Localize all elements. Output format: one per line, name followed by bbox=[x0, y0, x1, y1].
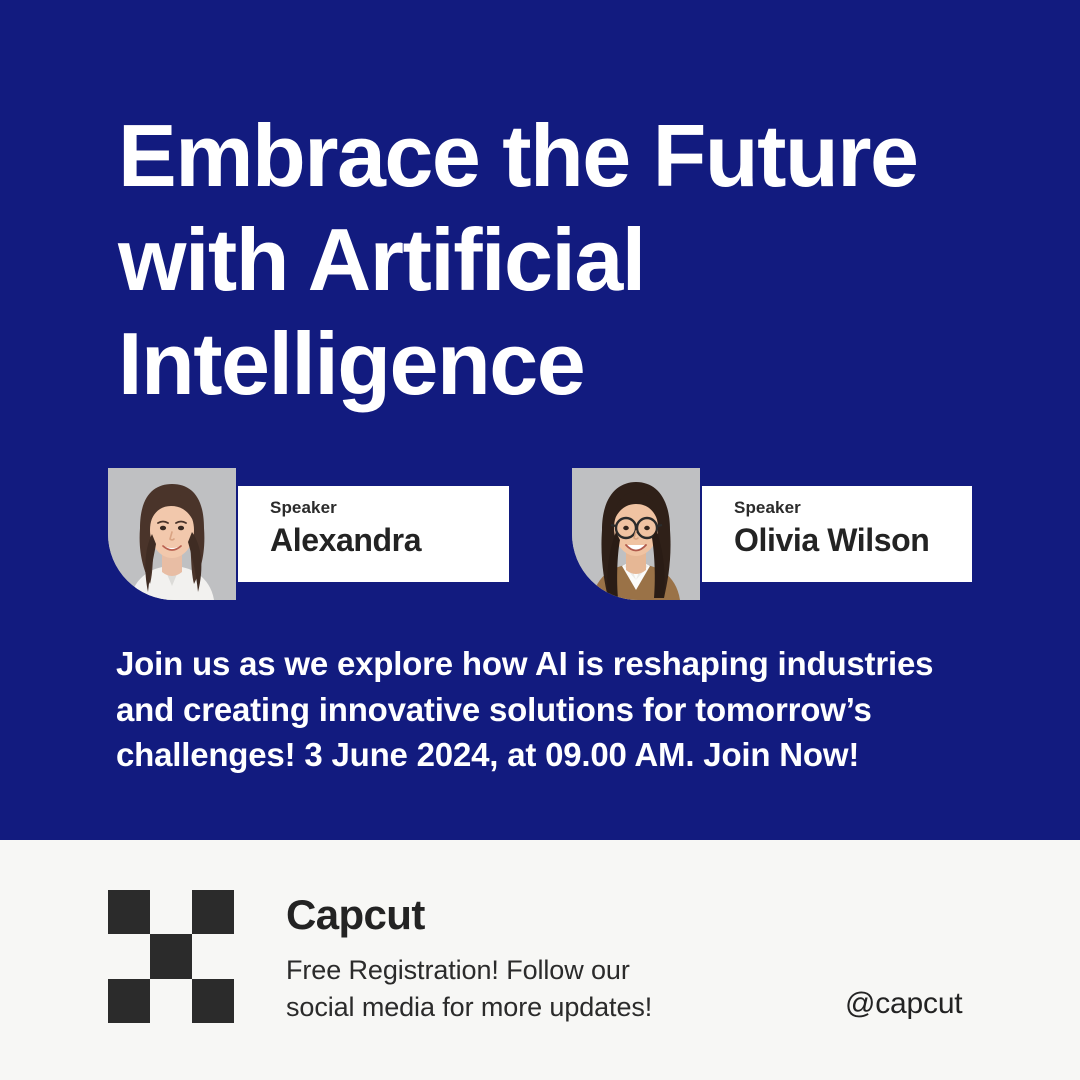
speaker-portrait-olivia-wilson-icon bbox=[572, 468, 700, 600]
body-line-3: challenges! 3 June 2024, at 09.00 AM. Jo… bbox=[116, 732, 996, 778]
logo-cell bbox=[150, 934, 192, 978]
speaker-card-alexandra: Speaker Alexandra bbox=[108, 468, 509, 600]
speaker-name: Alexandra bbox=[270, 520, 509, 560]
brand-name: Capcut bbox=[286, 892, 425, 938]
footer-tagline: Free Registration! Follow our social med… bbox=[286, 952, 652, 1027]
speaker-name: Olivia Wilson bbox=[734, 520, 972, 560]
logo-cell bbox=[108, 979, 150, 1023]
body-line-2: and creating innovative solutions for to… bbox=[116, 687, 996, 733]
event-description: Join us as we explore how AI is reshapin… bbox=[116, 641, 996, 778]
logo-cell bbox=[192, 979, 234, 1023]
speaker-list: Speaker Alexandra bbox=[0, 468, 1080, 600]
body-line-1: Join us as we explore how AI is reshapin… bbox=[116, 641, 996, 687]
page-title: Embrace the Future with Artificial Intel… bbox=[118, 104, 1018, 415]
headline-line-2: with Artificial bbox=[118, 208, 1018, 312]
headline-line-1: Embrace the Future bbox=[118, 104, 1018, 208]
speaker-portrait-alexandra-icon bbox=[108, 468, 236, 600]
logo-cell bbox=[192, 934, 234, 978]
headline-line-3: Intelligence bbox=[118, 312, 1018, 416]
speaker-role-label: Speaker bbox=[270, 499, 509, 518]
hero-panel: Embrace the Future with Artificial Intel… bbox=[0, 0, 1080, 840]
speaker-name-card: Speaker Olivia Wilson bbox=[702, 486, 972, 582]
logo-cell bbox=[108, 890, 150, 934]
tagline-line-1: Free Registration! Follow our bbox=[286, 952, 652, 989]
social-handle[interactable]: @capcut bbox=[845, 986, 962, 1022]
logo-cell bbox=[150, 890, 192, 934]
tagline-line-2: social media for more updates! bbox=[286, 989, 652, 1026]
speaker-role-label: Speaker bbox=[734, 499, 972, 518]
speaker-name-card: Speaker Alexandra bbox=[238, 486, 509, 582]
poster-canvas: Embrace the Future with Artificial Intel… bbox=[0, 0, 1080, 1080]
checkerboard-logo-icon bbox=[108, 890, 234, 1023]
logo-cell bbox=[192, 890, 234, 934]
logo-cell bbox=[108, 934, 150, 978]
speaker-card-olivia-wilson: Speaker Olivia Wilson bbox=[572, 468, 972, 600]
logo-cell bbox=[150, 979, 192, 1023]
